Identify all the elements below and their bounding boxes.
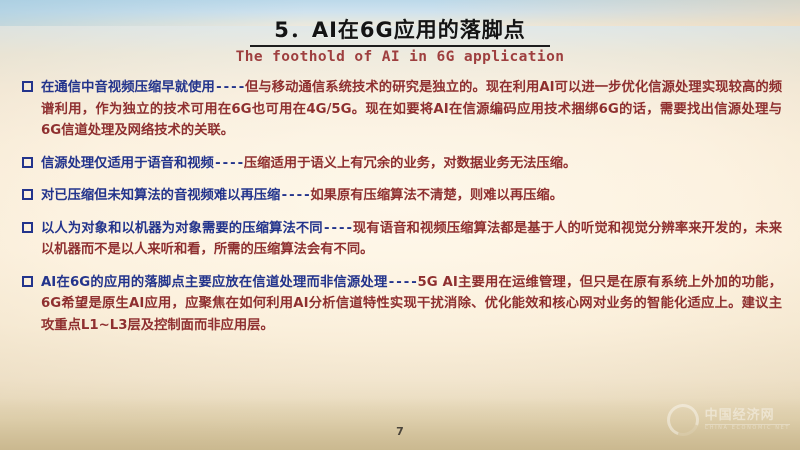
- slide-title-block: 5．AI在6G应用的落脚点 The foothold of AI in 6G a…: [0, 0, 800, 65]
- bullet-list: 在通信中音视频压缩早就使用----但与移动通信系统技术的研究是独立的。现在利用A…: [0, 77, 800, 336]
- list-item-text: 对已压缩但未知算法的音视频难以再压缩----如果原有压缩算法不清楚，则难以再压缩…: [41, 185, 782, 207]
- list-item-lead: 信源处理仅适用于语音和视频: [41, 156, 214, 171]
- list-item: 以人为对象和以机器为对象需要的压缩算法不同----现有语音和视频压缩算法都是基于…: [22, 218, 782, 261]
- list-item: 对已压缩但未知算法的音视频难以再压缩----如果原有压缩算法不清楚，则难以再压缩…: [22, 185, 782, 207]
- list-item-text: 以人为对象和以机器为对象需要的压缩算法不同----现有语音和视频压缩算法都是基于…: [41, 218, 782, 261]
- page-number: 7: [0, 425, 800, 438]
- page-title: 5．AI在6G应用的落脚点: [0, 18, 800, 42]
- title-underline: [250, 45, 550, 47]
- list-item-detail: 压缩适用于语义上有冗余的业务，对数据业务无法压缩。: [244, 156, 576, 171]
- hollow-square-bullet-icon: [22, 157, 33, 168]
- list-item-lead: 以人为对象和以机器为对象需要的压缩算法不同: [41, 221, 323, 236]
- list-item-lead: 在通信中音视频压缩早就使用: [41, 80, 215, 95]
- list-item-dashes: ----: [388, 275, 418, 290]
- page-subtitle: The foothold of AI in 6G application: [0, 49, 800, 65]
- hollow-square-bullet-icon: [22, 81, 33, 92]
- list-item-lead: AI在6G的应用的落脚点主要应放在信道处理而非信源处理: [41, 275, 388, 290]
- list-item: AI在6G的应用的落脚点主要应放在信道处理而非信源处理----5G AI主要用在…: [22, 272, 782, 337]
- list-item-text: AI在6G的应用的落脚点主要应放在信道处理而非信源处理----5G AI主要用在…: [41, 272, 782, 337]
- list-item: 在通信中音视频压缩早就使用----但与移动通信系统技术的研究是独立的。现在利用A…: [22, 77, 782, 142]
- slide-content: 5．AI在6G应用的落脚点 The foothold of AI in 6G a…: [0, 0, 800, 450]
- list-item-lead: 对已压缩但未知算法的音视频难以再压缩: [41, 188, 280, 203]
- slide-canvas: 5．AI在6G应用的落脚点 The foothold of AI in 6G a…: [0, 0, 800, 450]
- hollow-square-bullet-icon: [22, 276, 33, 287]
- list-item-text: 在通信中音视频压缩早就使用----但与移动通信系统技术的研究是独立的。现在利用A…: [41, 77, 782, 142]
- hollow-square-bullet-icon: [22, 189, 33, 200]
- list-item-dashes: ----: [280, 188, 310, 203]
- list-item-detail: 如果原有压缩算法不清楚，则难以再压缩。: [310, 188, 563, 203]
- list-item-dashes: ----: [323, 221, 353, 236]
- list-item-text: 信源处理仅适用于语音和视频----压缩适用于语义上有冗余的业务，对数据业务无法压…: [41, 153, 782, 175]
- hollow-square-bullet-icon: [22, 222, 33, 233]
- list-item: 信源处理仅适用于语音和视频----压缩适用于语义上有冗余的业务，对数据业务无法压…: [22, 153, 782, 175]
- list-item-dashes: ----: [215, 80, 245, 95]
- list-item-dashes: ----: [214, 156, 244, 171]
